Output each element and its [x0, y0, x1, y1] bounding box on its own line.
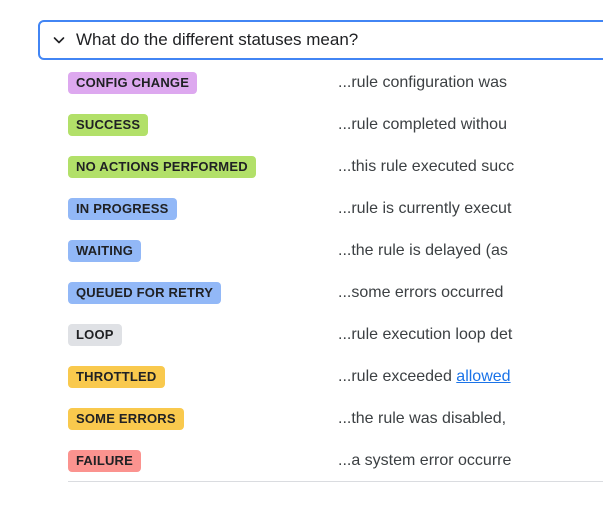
status-description-cell: ...rule execution loop det	[338, 314, 603, 356]
status-description-cell: ...a system error occurre	[338, 440, 603, 482]
status-badge: SOME ERRORS	[68, 408, 184, 430]
status-badge: QUEUED FOR RETRY	[68, 282, 221, 304]
status-badge-cell: IN PROGRESS	[38, 188, 338, 230]
status-description: ...rule exceeded allowed	[338, 368, 511, 385]
status-description: ...rule is currently execut	[338, 200, 511, 217]
status-description-cell: ...some errors occurred	[338, 272, 603, 314]
status-badge-cell: QUEUED FOR RETRY	[38, 272, 338, 314]
status-badge-cell: CONFIG CHANGE	[38, 62, 338, 104]
status-badge: THROTTLED	[68, 366, 165, 388]
status-badge-cell: FAILURE	[38, 440, 338, 482]
status-badge: IN PROGRESS	[68, 198, 177, 220]
status-description-text: ...rule exceeded	[338, 368, 456, 385]
status-badge-cell: SUCCESS	[38, 104, 338, 146]
status-description: ...rule configuration was	[338, 74, 507, 91]
status-description-cell: ...the rule is delayed (as	[338, 230, 603, 272]
status-badge-cell: WAITING	[38, 230, 338, 272]
table-row: QUEUED FOR RETRY ...some errors occurred	[38, 272, 603, 314]
table-row: NO ACTIONS PERFORMED ...this rule execut…	[38, 146, 603, 188]
status-badge-cell: THROTTLED	[38, 356, 338, 398]
faq-accordion-title: What do the different statuses mean?	[76, 30, 358, 50]
status-description-cell: ...this rule executed succ	[338, 146, 603, 188]
status-badge: WAITING	[68, 240, 141, 262]
status-badge: SUCCESS	[68, 114, 148, 136]
status-description: ...rule execution loop det	[338, 326, 512, 343]
chevron-down-icon[interactable]	[50, 31, 68, 49]
status-description: ...rule completed withou	[338, 116, 507, 133]
faq-status-legend-page: What do the different statuses mean? CON…	[0, 0, 603, 508]
status-legend-table: CONFIG CHANGE ...rule configuration was …	[38, 62, 603, 482]
table-row: FAILURE ...a system error occurre	[38, 440, 603, 482]
status-badge-cell: NO ACTIONS PERFORMED	[38, 146, 338, 188]
status-description: ...this rule executed succ	[338, 158, 514, 175]
status-description-cell: ...rule is currently execut	[338, 188, 603, 230]
status-description: ...a system error occurre	[338, 452, 511, 469]
table-row: THROTTLED ...rule exceeded allowed	[38, 356, 603, 398]
status-description-cell: ...rule exceeded allowed	[338, 356, 603, 398]
status-description: ...the rule was disabled,	[338, 410, 506, 427]
status-badge: CONFIG CHANGE	[68, 72, 197, 94]
table-row: SOME ERRORS ...the rule was disabled,	[38, 398, 603, 440]
table-row: SUCCESS ...rule completed withou	[38, 104, 603, 146]
status-description: ...the rule is delayed (as	[338, 242, 508, 259]
table-row: WAITING ...the rule is delayed (as	[38, 230, 603, 272]
status-badge-cell: SOME ERRORS	[38, 398, 338, 440]
faq-accordion-header[interactable]: What do the different statuses mean?	[40, 22, 603, 58]
status-description-cell: ...rule configuration was	[338, 62, 603, 104]
status-badge: FAILURE	[68, 450, 141, 472]
table-row: LOOP ...rule execution loop det	[38, 314, 603, 356]
status-badge: LOOP	[68, 324, 122, 346]
section-divider	[68, 481, 603, 482]
status-badge-cell: LOOP	[38, 314, 338, 356]
status-description-cell: ...the rule was disabled,	[338, 398, 603, 440]
status-badge: NO ACTIONS PERFORMED	[68, 156, 256, 178]
faq-accordion: What do the different statuses mean?	[38, 20, 603, 60]
table-row: IN PROGRESS ...rule is currently execut	[38, 188, 603, 230]
status-description: ...some errors occurred	[338, 284, 503, 301]
allowed-link[interactable]: allowed	[456, 368, 510, 385]
table-row: CONFIG CHANGE ...rule configuration was	[38, 62, 603, 104]
status-legend-body: CONFIG CHANGE ...rule configuration was …	[38, 62, 603, 482]
status-description-cell: ...rule completed withou	[338, 104, 603, 146]
